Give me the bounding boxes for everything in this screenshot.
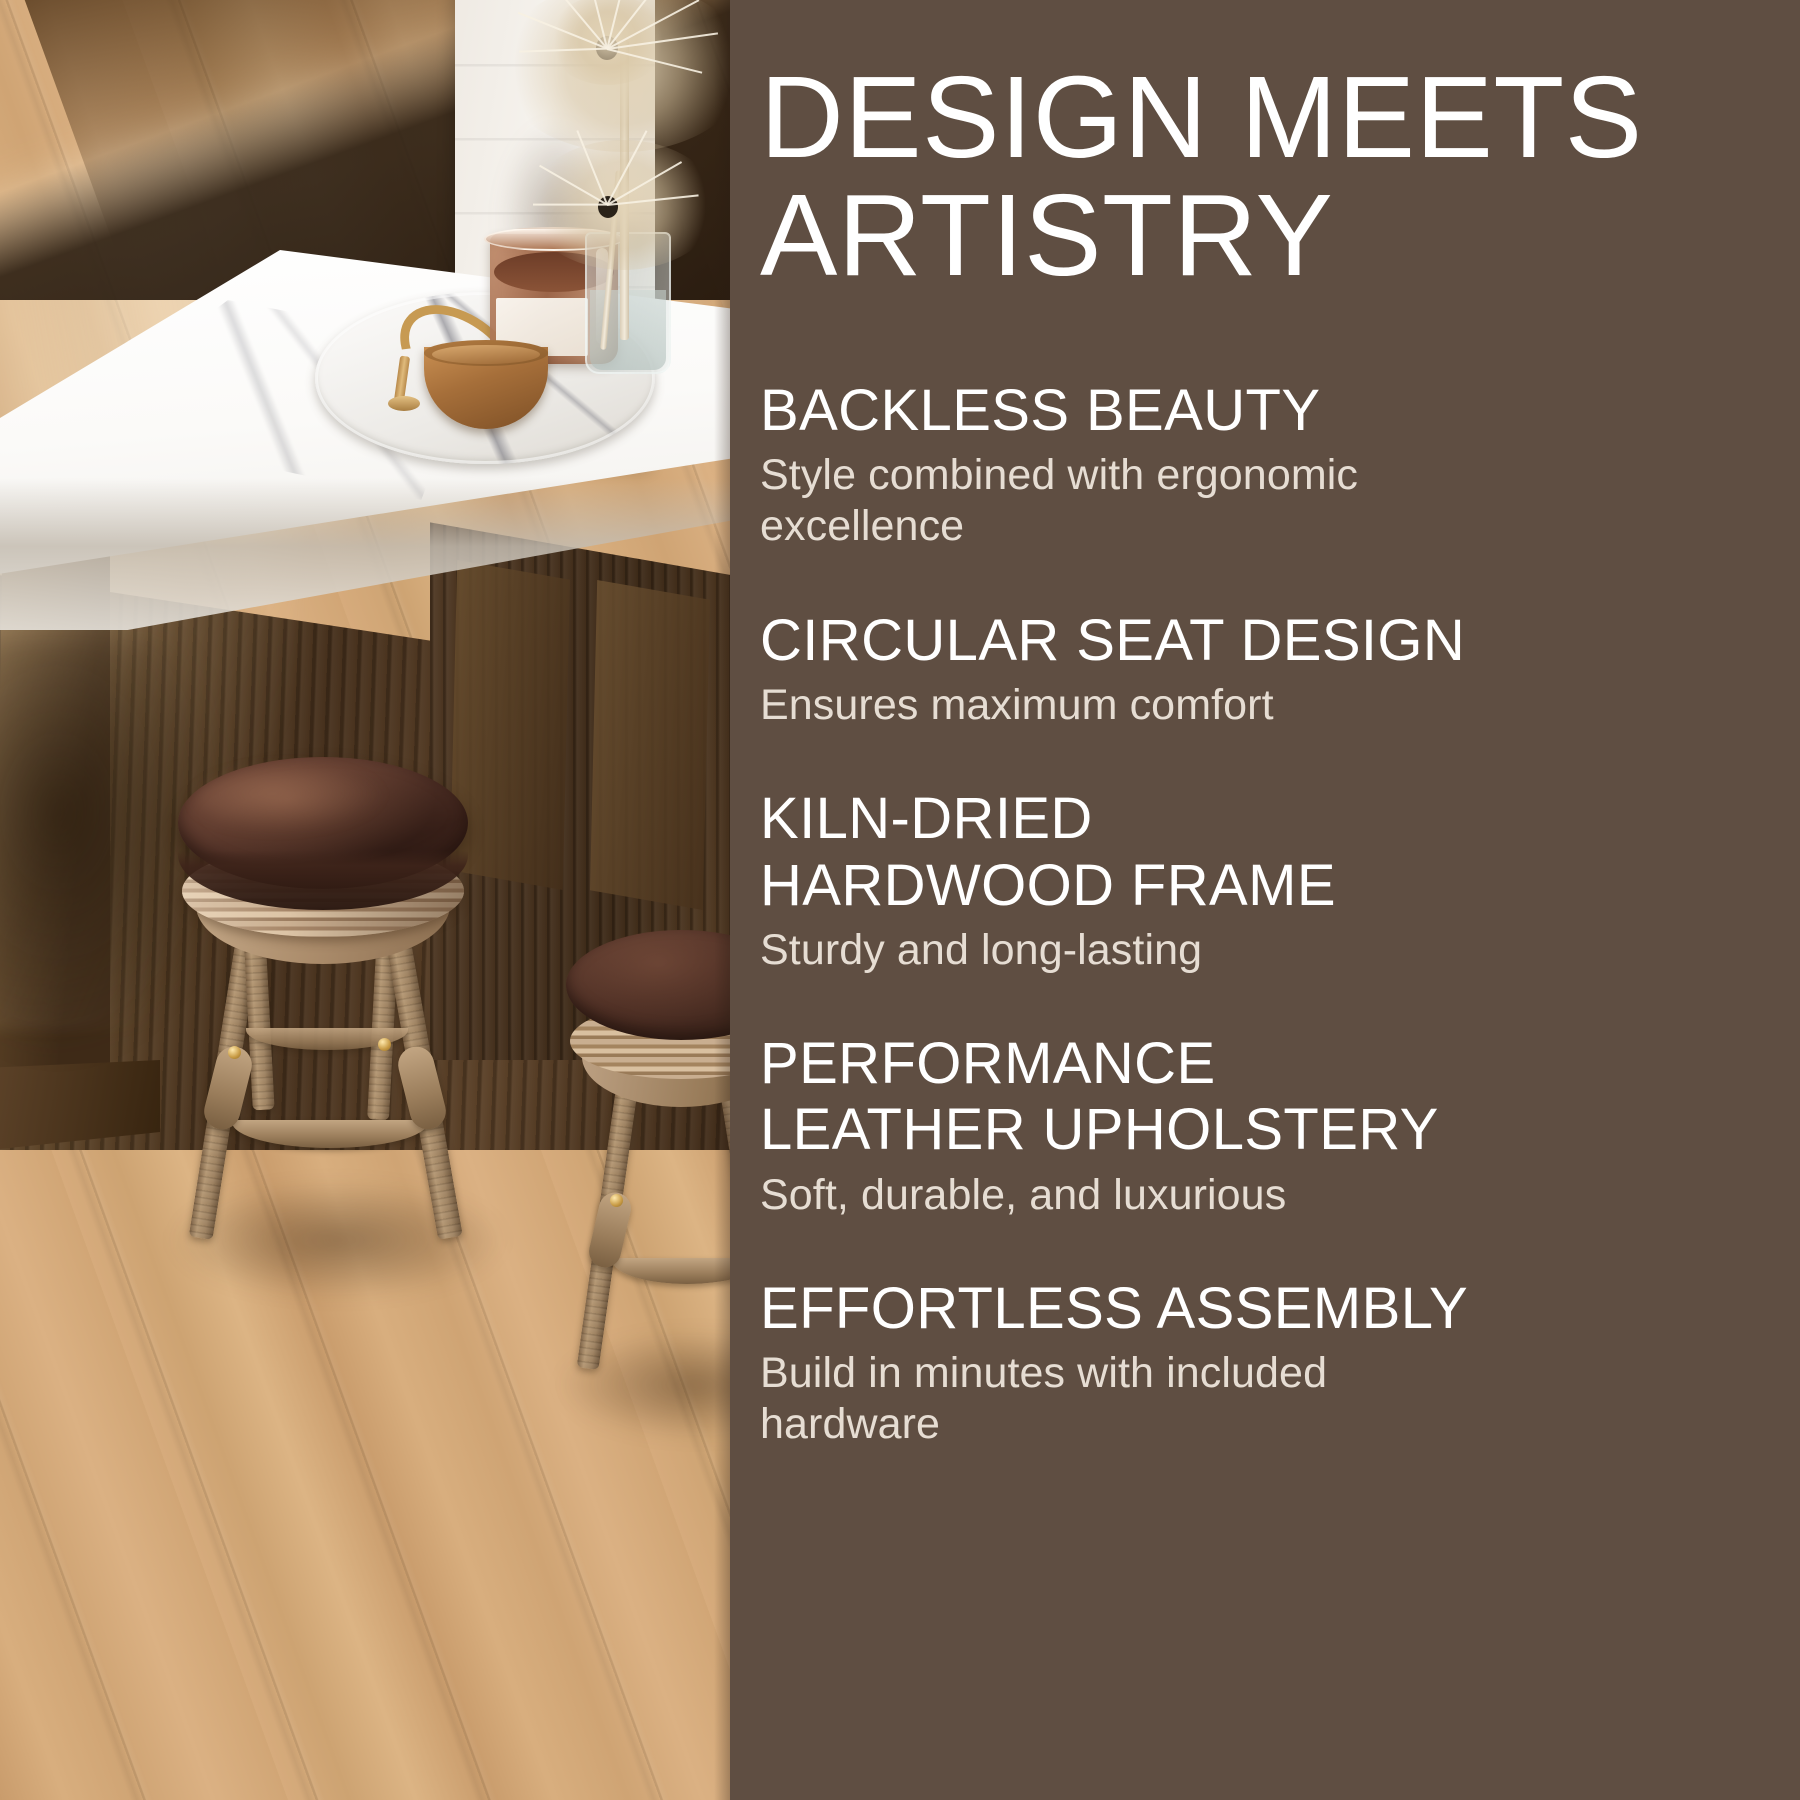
feature-item-kiln-dried-hardwood-frame: KILN-DRIED HARDWOOD FRAME Sturdy and lon…	[760, 786, 1770, 975]
stool-brass-rivet-right	[378, 1038, 391, 1051]
island-trim-right	[590, 580, 710, 910]
feature-heading: PERFORMANCE LEATHER UPHOLSTERY	[760, 1031, 1770, 1163]
wooden-bowl-interior	[432, 345, 540, 364]
feature-item-backless-beauty: BACKLESS BEAUTY Style combined with ergo…	[760, 378, 1770, 552]
umbel-ray	[533, 204, 607, 206]
feature-heading: EFFORTLESS ASSEMBLY	[760, 1276, 1770, 1342]
stool2-brass-rivet	[610, 1194, 623, 1207]
feature-heading: CIRCULAR SEAT DESIGN	[760, 608, 1770, 674]
feature-subtitle: Style combined with ergonomic excellence	[760, 450, 1770, 551]
feature-subtitle: Soft, durable, and luxurious	[760, 1170, 1770, 1221]
feature-item-performance-leather-upholstery: PERFORMANCE LEATHER UPHOLSTERY Soft, dur…	[760, 1031, 1770, 1220]
product-photo	[0, 0, 730, 1800]
feature-panel: DESIGN MEETS ARTISTRY BACKLESS BEAUTY St…	[730, 0, 1800, 1800]
feature-list: BACKLESS BEAUTY Style combined with ergo…	[760, 378, 1770, 1506]
infographic-canvas: DESIGN MEETS ARTISTRY BACKLESS BEAUTY St…	[0, 0, 1800, 1800]
feature-item-circular-seat-design: CIRCULAR SEAT DESIGN Ensures maximum com…	[760, 608, 1770, 731]
feature-subtitle: Ensures maximum comfort	[760, 680, 1770, 731]
feature-subtitle: Build in minutes with included hardware	[760, 1348, 1770, 1449]
island-trim-left	[450, 560, 570, 890]
photo-right-edge-shading	[714, 0, 730, 1800]
feature-heading: BACKLESS BEAUTY	[760, 378, 1770, 444]
feature-heading: KILN-DRIED HARDWOOD FRAME	[760, 786, 1770, 918]
feature-subtitle: Sturdy and long-lasting	[760, 925, 1770, 976]
stool-brass-rivet-left	[228, 1046, 241, 1059]
brass-faucet-base	[388, 396, 420, 411]
feature-item-effortless-assembly: EFFORTLESS ASSEMBLY Build in minutes wit…	[760, 1276, 1770, 1450]
page-title: DESIGN MEETS ARTISTRY	[760, 58, 1760, 295]
stool-seat-highlight	[196, 768, 386, 832]
